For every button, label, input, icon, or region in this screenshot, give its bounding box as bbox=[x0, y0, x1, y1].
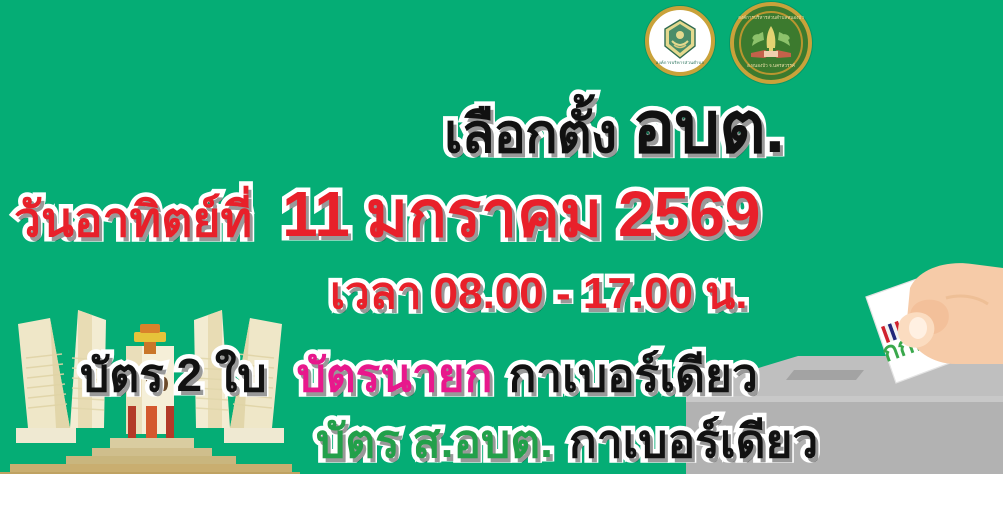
ballot-count-label: บัตร 2 ใบ bbox=[80, 349, 267, 401]
mayor-ballot-instruction: กาเบอร์เดียว bbox=[508, 349, 757, 401]
election-time-line: เวลา 08.00 - 17.00 น. bbox=[330, 272, 747, 316]
date-label: วันอาทิตย์ที่ bbox=[14, 194, 252, 247]
council-ballot-title: บัตร ส.อบต. bbox=[316, 415, 553, 467]
bottom-white-strip bbox=[0, 474, 1003, 510]
headline-main: อบต. bbox=[632, 88, 784, 168]
left-emblem-ring-text: องค์การบริหารส่วนตำบล bbox=[649, 61, 711, 65]
date-year: 2569 bbox=[618, 178, 760, 250]
election-announcement-poster: กกต องค์การบริห bbox=[0, 0, 1003, 510]
right-emblem-top-text: องค์การบริหารส่วนตำบลหนองบัว bbox=[734, 16, 808, 21]
date-month: มกราคม bbox=[366, 178, 602, 250]
election-date-line: วันอาทิตย์ที่11มกราคม2569 bbox=[14, 182, 760, 246]
council-ballot-instruction: กาเบอร์เดียว bbox=[569, 415, 818, 467]
mayor-ballot-title: บัตรนายก bbox=[297, 349, 493, 401]
headline-prefix: เลือกตั้ง bbox=[444, 104, 616, 164]
ballot-line-two: บัตร ส.อบต.กาเบอร์เดียว bbox=[316, 418, 818, 464]
right-emblem: องค์การบริหารส่วนตำบลหนองบัว อ.หนองบัว จ… bbox=[730, 2, 812, 84]
hand-casting-ballot-illustration: กกต bbox=[806, 252, 1003, 412]
poster-headline: เลือกตั้งอบต. bbox=[444, 92, 784, 164]
right-emblem-bottom-text: อ.หนองบัว จ.นครสวรรค์ bbox=[734, 64, 808, 69]
date-day: 11 bbox=[282, 178, 350, 250]
ballot-line-one: บัตร 2 ใบบัตรนายกกาเบอร์เดียว bbox=[80, 352, 758, 398]
left-emblem: องค์การบริหารส่วนตำบล bbox=[645, 6, 715, 76]
